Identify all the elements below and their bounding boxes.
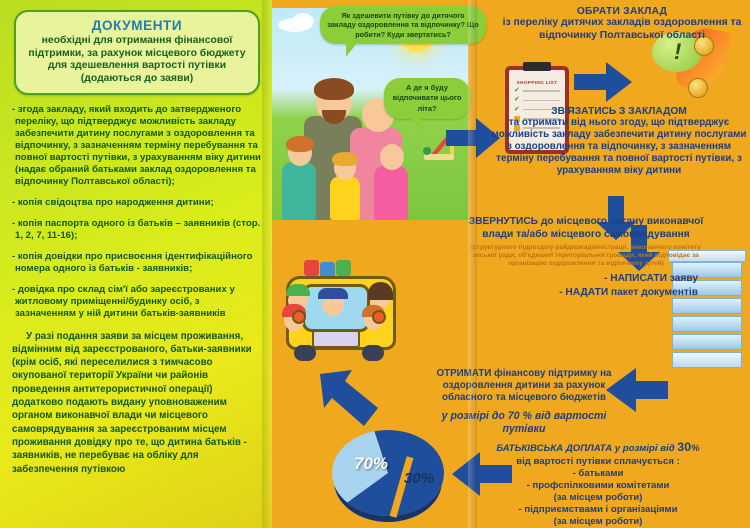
documents-panel: ДОКУМЕНТИ необхідні для отримання фінанс… [0,0,272,528]
step-receive-support: ОТРИМАТИ фінансову підтримку на оздоровл… [424,368,624,436]
child-body [330,176,360,220]
pie-label-30: 30% [404,470,434,487]
cost-split-pie-chart: 70% 30% [332,430,452,522]
building-floor [672,298,742,314]
check-icon: ✔ [514,88,520,94]
documents-note: У разі подання заяви за місцем проживанн… [12,330,260,476]
list-item: (за місцем роботи) [452,516,744,528]
bus-grille [312,330,360,348]
building-floor [672,334,742,350]
list-item: - копія паспорта одного із батьків – зая… [12,218,262,242]
pie-label-70: 70% [354,454,388,474]
check-icon: ✔ [514,97,520,103]
step-choose-heading: ОБРАТИ ЗАКЛАД [498,6,746,17]
step-contact-heading: ЗВ'ЯЗАТИСЬ З ЗАКЛАДОМ [490,106,748,117]
child-hair [286,136,314,152]
step-apply-authority: ЗВЕРНУТИСЬ до місцевого органу виконавчо… [468,216,704,299]
infographic-poster: ДОКУМЕНТИ необхідні для отримання фінанс… [0,0,750,528]
clipboard-title: SHOPPING LIST [514,80,560,85]
clipboard-line [523,100,560,102]
list-item: - підприємствами і організаціями [452,504,744,516]
parent-payment-heading: БАТЬКІВСЬКА ДОПЛАТА у розмірі від 30% [452,440,744,456]
documents-list: - згода закладу, який входить до затверд… [12,104,262,320]
parent-payment-percent-sign: % [691,443,700,454]
bus-driver-cap [318,288,348,299]
bus-kid-hair [368,282,393,300]
step-receive-percent: у розмірі до 70 % від вартості путівки [424,410,624,436]
list-item: - НАПИСАТИ заяву [468,272,698,285]
exclamation-mark-icon: ! [674,39,681,65]
building-floor [672,316,742,332]
bus-headlight [372,310,386,324]
list-item: - довідка про склад сім'ї або зареєстров… [12,284,262,320]
list-item: - НАДАТИ пакет документів [468,286,698,299]
documents-header-box: ДОКУМЕНТИ необхідні для отримання фінанс… [14,10,260,95]
speech-bubble-parents-text: Як здешевити путівку до дитячого закладу… [327,11,478,39]
list-item: - копія свідоцтва про народження дитини; [12,197,262,209]
step-choose-institution: ОБРАТИ ЗАКЛАД із переліку дитячих заклад… [498,6,746,42]
bus-wheel [362,345,384,361]
speech-bubble-child: А де я буду відпочивати цього літа? [384,78,470,119]
speech-bubble-child-text: А де я буду відпочивати цього літа? [393,83,462,113]
arrow-clipboard-to-contact-icon [574,62,632,102]
step-receive-heading: ОТРИМАТИ фінансову підтримку на оздоровл… [424,368,624,404]
list-item: ✔ [514,88,560,94]
child-body [282,162,316,220]
bus-headlight [292,310,306,324]
suitcase-icon [304,260,319,276]
step-contact-institution: ЗВ'ЯЗАТИСЬ З ЗАКЛАДОМ та отримати від нь… [490,106,748,176]
step-apply-small-note: (структурного підрозділу райдержадмініст… [468,244,704,268]
parent-payment-line2: від вартості путівки сплачується : [452,456,744,468]
arrow-pie-to-deliver-icon [316,368,378,426]
suitcase-icon [336,260,351,276]
clipboard-clamp-icon [523,62,551,71]
child-body [374,166,408,220]
list-item: (за місцем роботи) [452,492,744,504]
list-item: - згода закладу, який входить до затверд… [12,104,262,188]
bus-wheel [294,345,316,361]
list-item: - копія довідки про присвоєння ідентифік… [12,251,262,275]
step-contact-body: та отримати від нього згоду, що підтверд… [490,117,748,176]
list-item: ✔ [514,97,560,103]
list-item: - батьками [452,468,744,480]
coin-icon [688,78,708,98]
parent-payment-percent: 30 [677,440,691,454]
clipboard-line [523,90,560,92]
page-title: ДОКУМЕНТИ [22,18,252,33]
building-entrance [672,352,742,368]
bus-kid-hat [286,284,310,296]
father-hair [314,78,354,100]
step-apply-actions: - НАПИСАТИ заяву - НАДАТИ пакет документ… [468,272,704,299]
child-head [380,144,404,170]
brochure-fold-line [468,0,477,528]
documents-subtitle: необхідні для отримання фінансової підтр… [22,35,252,86]
parent-payment-heading-pre: БАТЬКІВСЬКА ДОПЛАТА у розмірі від [496,443,677,454]
school-bus-illustration [278,248,408,363]
step-choose-body: із переліку дитячих закладів оздоровленн… [498,17,746,42]
step-apply-heading: ЗВЕРНУТИСЬ до місцевого органу виконавчо… [468,216,704,241]
speech-bubble-parents: Як здешевити путівку до дитячого закладу… [320,6,486,44]
list-item: - профспілковими комітетами [452,480,744,492]
step-parent-payment: БАТЬКІВСЬКА ДОПЛАТА у розмірі від 30% ві… [452,440,744,528]
child-hair [332,152,358,166]
cloud-icon [292,13,314,29]
